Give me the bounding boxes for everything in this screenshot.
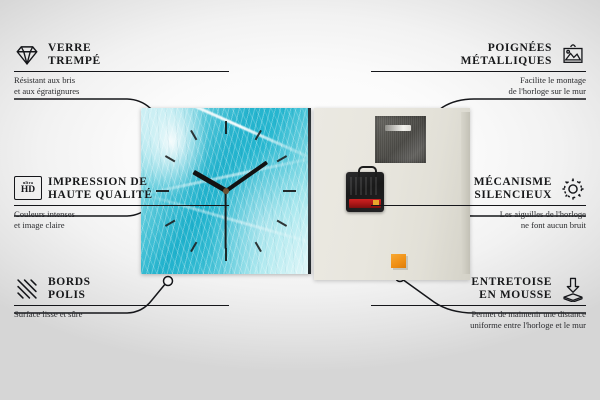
feature-description: Permet de maintenir une distanceuniforme…	[371, 309, 586, 330]
hour-tick	[225, 248, 227, 261]
feature-header: POIGNÉESMÉTALLIQUES	[371, 42, 586, 68]
feature-description: Facilite le montagede l'horloge sur le m…	[371, 75, 586, 96]
feature-divider	[371, 71, 586, 72]
feature-description: Surface lisse et sûre	[14, 309, 229, 320]
glass-edge	[308, 108, 311, 274]
feature-poignees-metalliques: POIGNÉESMÉTALLIQUES Facilite le montaged…	[371, 42, 586, 97]
foam-spacer-icon	[560, 276, 586, 302]
gear-icon	[560, 176, 586, 202]
feature-impression-haute-qualite: ultra HD IMPRESSION DEHAUTE QUALITÉ Coul…	[14, 176, 229, 231]
hour-tick	[190, 242, 197, 253]
feature-title: BORDSPOLIS	[48, 276, 91, 302]
ultra-hd-icon: ultra HD	[14, 176, 40, 202]
hanger-slot	[385, 125, 411, 131]
feature-divider	[371, 205, 586, 206]
feature-mecanisme-silencieux: MÉCANISMESILENCIEUX Les aiguilles de l'h…	[371, 176, 586, 231]
feature-title: ENTRETOISEEN MOUSSE	[471, 276, 552, 302]
feature-divider	[371, 305, 586, 306]
feature-header: ENTRETOISEEN MOUSSE	[371, 276, 586, 302]
feature-header: ultra HD IMPRESSION DEHAUTE QUALITÉ	[14, 176, 229, 202]
feature-divider	[14, 71, 229, 72]
feature-header: MÉCANISMESILENCIEUX	[371, 176, 586, 202]
hour-tick	[277, 155, 288, 162]
hour-tick	[165, 155, 176, 162]
metallic-hanger-plate	[375, 116, 426, 163]
minute-hand	[225, 161, 268, 193]
feature-header: VERRETREMPÉ	[14, 42, 229, 68]
feature-header: BORDSPOLIS	[14, 276, 229, 302]
hour-tick	[283, 190, 296, 192]
hour-tick	[225, 121, 227, 134]
feature-title: POIGNÉESMÉTALLIQUES	[461, 42, 552, 68]
polished-edge-icon	[14, 276, 40, 302]
diamond-icon	[14, 42, 40, 68]
orange-foam-spacer	[391, 254, 406, 268]
feature-divider	[14, 305, 229, 306]
feature-title: VERRETREMPÉ	[48, 42, 101, 68]
feature-title: MÉCANISMESILENCIEUX	[474, 176, 552, 202]
feature-entretoise-en-mousse: ENTRETOISEEN MOUSSE Permet de maintenir …	[371, 276, 586, 331]
feature-divider	[14, 205, 229, 206]
feature-title: IMPRESSION DEHAUTE QUALITÉ	[48, 176, 153, 202]
feature-description: Les aiguilles de l'horlogene font aucun …	[371, 209, 586, 230]
feature-bords-polis: BORDSPOLIS Surface lisse et sûre	[14, 276, 229, 320]
feature-description: Résistant aux briset aux égratignures	[14, 75, 229, 96]
metal-grain	[375, 116, 426, 163]
picture-hanger-icon	[560, 42, 586, 68]
hour-tick	[277, 220, 288, 227]
hour-tick	[190, 130, 197, 141]
hour-tick	[255, 130, 262, 141]
hour-tick	[255, 242, 262, 253]
feature-description: Couleurs intenseset image claire	[14, 209, 229, 230]
product-infographic: VERRETREMPÉ Résistant aux briset aux égr…	[0, 0, 600, 400]
feature-verre-trempe: VERRETREMPÉ Résistant aux briset aux égr…	[14, 42, 229, 97]
